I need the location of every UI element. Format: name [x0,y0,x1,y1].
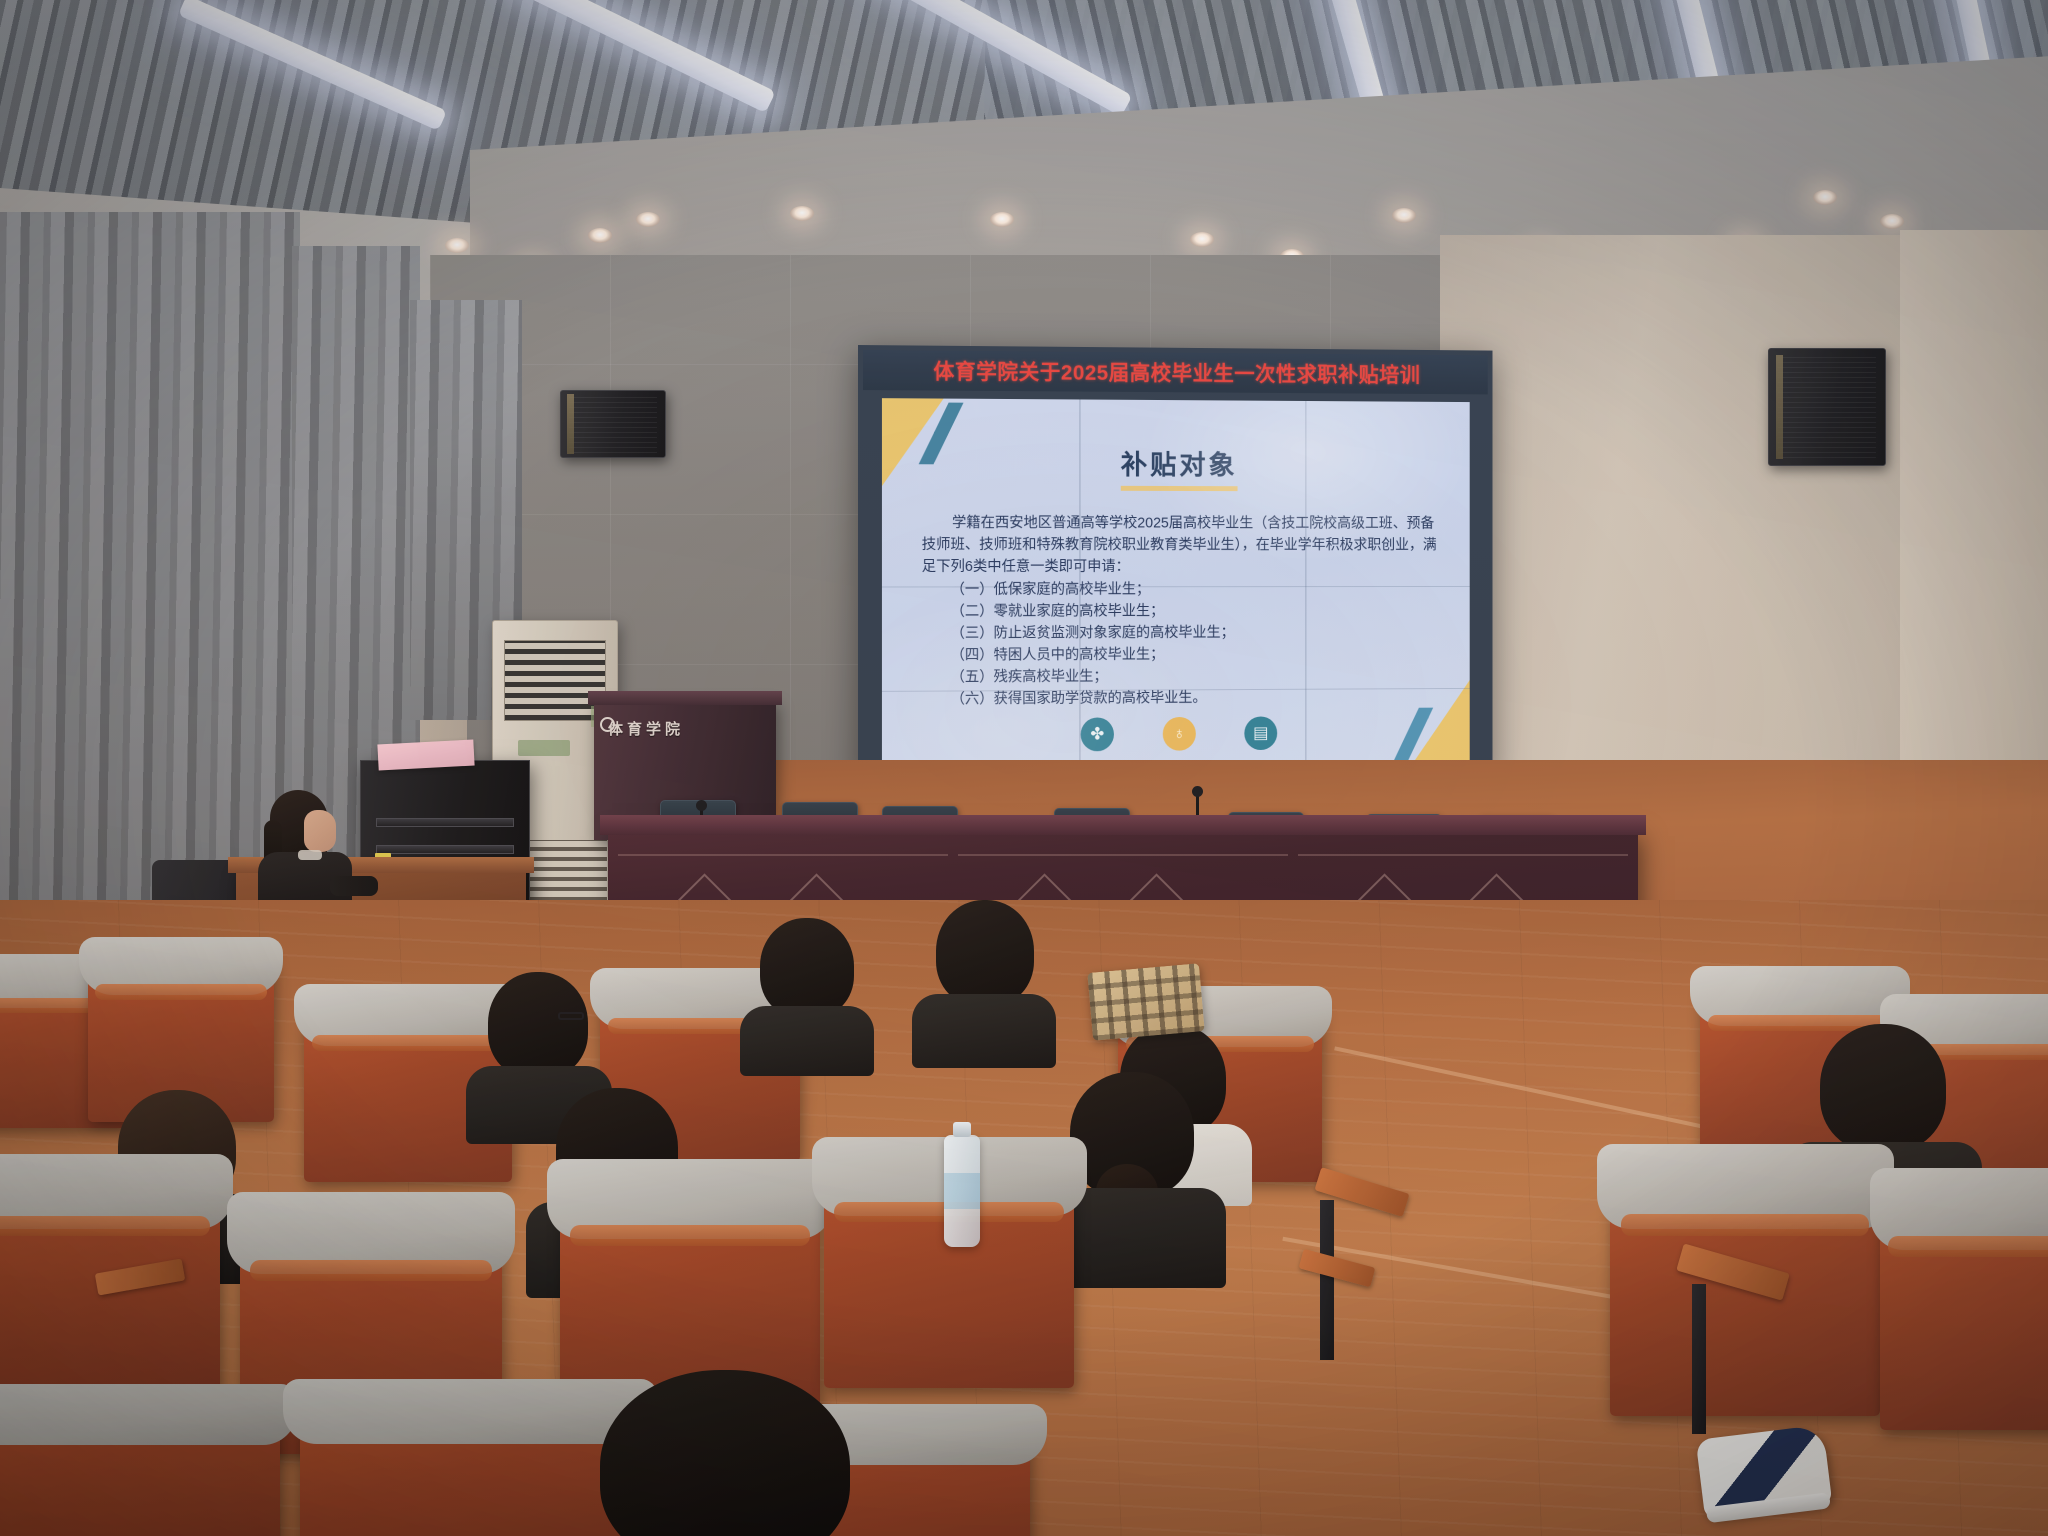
downlight-9 [1392,208,1416,223]
projection-screen[interactable]: 体育学院关于2025届高校毕业生一次性求职补贴培训 补贴对象 学籍在西安地区普通… [858,345,1492,785]
glasses-icon [558,1012,584,1020]
presenter-speaker [256,790,352,910]
head [760,918,854,1018]
slide-eligibility-list: （一）低保家庭的高校毕业生； （二）零就业家庭的高校毕业生； （三）防止返贫监测… [922,579,1443,711]
slide-canvas: 补贴对象 学籍在西安地区普通高等学校2025届高校毕业生（含技工院校高级工班、预… [882,398,1470,771]
water-bottle [944,1135,980,1247]
slide-heading: 补贴对象 [882,442,1470,492]
sneaker [1696,1424,1833,1519]
shoulders [740,1006,874,1076]
downlight-4 [636,212,660,227]
wall-speaker-right [1768,348,1886,466]
downlight-14 [1880,214,1904,229]
school-logo-icon [600,717,615,732]
downlight-5 [790,206,814,221]
auditorium-seat[interactable] [300,1396,640,1536]
presenter-arm [330,876,378,896]
ac-control-panel [518,740,570,756]
curtain-left [0,212,300,912]
award-medal-icon: ✤ [1081,717,1114,751]
conference-table-top [600,815,1646,835]
list-item: （四）特困人员中的高校毕业生； [922,643,1443,667]
slide-heading-text: 补贴对象 [1121,443,1238,491]
wall-speaker-left [560,390,666,458]
presenter-face [304,810,336,852]
stack-of-papers [377,740,474,771]
event-banner: 体育学院关于2025届高校毕业生一次性求职补贴培训 [863,350,1488,394]
list-item: （五）残疾高校毕业生； [922,665,1443,689]
rack-slot [376,818,514,827]
bottle-label [944,1173,980,1209]
head [488,972,588,1078]
desk-microphone-head [696,800,707,811]
auditorium-seat[interactable] [0,1400,280,1536]
downlight-6 [990,212,1014,227]
slide-icon-row: ✤ ♁ ▤ [882,715,1470,753]
book-icon: ▤ [1244,716,1277,750]
armrest-post [1692,1284,1706,1434]
banner-title: 体育学院关于2025届高校毕业生一次性求职补贴培训 [934,356,1421,389]
lectern-top-surface [588,691,782,705]
lightbulb-icon: ♁ [1163,717,1196,751]
shoulders [912,994,1056,1068]
lectern-sign: 体育学院 [608,718,684,739]
downlight-7 [1190,232,1214,247]
downlight-13 [1813,190,1837,205]
list-item: （一）低保家庭的高校毕业生； [922,579,1443,601]
auditorium-seat[interactable] [1610,1166,1880,1416]
list-item: （三）防止返贫监测对象家庭的高校毕业生； [922,622,1443,645]
plaid-bag [1087,963,1205,1041]
rack-slot [376,845,514,854]
bottle-cap [953,1122,971,1137]
presenter-collar [298,850,322,860]
slide-body: 学籍在西安地区普通高等学校2025届高校毕业生（含技工院校高级工班、预备技师班、… [922,512,1443,711]
head [936,900,1034,1006]
auditorium-seat[interactable] [1880,1190,2048,1430]
lectern-sign-text: 体育学院 [608,721,684,738]
lecture-hall-photo: 体育学院关于2025届高校毕业生一次性求职补贴培训 补贴对象 学籍在西安地区普通… [0,0,2048,1536]
downlight-1 [445,238,469,253]
armrest-post [1320,1200,1334,1360]
slide-paragraph: 学籍在西安地区普通高等学校2025届高校毕业生（含技工院校高级工班、预备技师班、… [922,512,1443,578]
list-item: （二）零就业家庭的高校毕业生； [922,600,1443,623]
list-item: （六）获得国家助学贷款的高校毕业生。 [922,686,1443,711]
table-microphone-head [1192,786,1203,797]
head [1820,1024,1946,1152]
downlight-3 [588,228,612,243]
